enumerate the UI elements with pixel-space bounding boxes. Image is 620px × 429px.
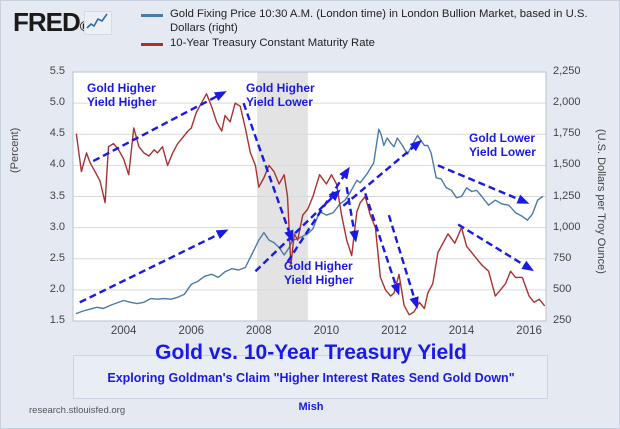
legend-item-treasury: 10-Year Treasury Constant Maturity Rate — [141, 36, 619, 50]
line-chart-icon — [84, 11, 112, 35]
x-tick-5: 2014 — [438, 325, 486, 337]
x-tick-6: 2016 — [505, 325, 553, 337]
x-tick-0: 2004 — [100, 325, 148, 337]
y-tick-left-5: 4.0 — [29, 158, 65, 170]
legend-swatch-treasury — [141, 43, 163, 46]
y-axis-left-label: (Percent) — [9, 128, 21, 173]
annotation-a3: Gold LowerYield Lower — [469, 131, 536, 159]
annotation-line1: Gold Higher — [246, 81, 315, 95]
x-tick-3: 2010 — [302, 325, 350, 337]
legend-swatch-gold — [141, 14, 163, 17]
annotation-a1: Gold HigherYield Higher — [87, 81, 157, 109]
annotation-line1: Gold Higher — [87, 81, 157, 95]
y-tick-right-6: 1,750 — [553, 127, 597, 139]
legend-item-gold: Gold Fixing Price 10:30 A.M. (London tim… — [141, 7, 619, 35]
annotation-line2: Yield Higher — [284, 273, 354, 287]
fred-chart-page: FRED® Gold Fixing Price 10:30 A.M. (Lond… — [1, 1, 619, 428]
legend-label-treasury: 10-Year Treasury Constant Maturity Rate — [170, 36, 375, 50]
source-url: research.stlouisfed.org — [29, 405, 125, 416]
y-tick-right-5: 1,500 — [553, 158, 597, 170]
y-tick-right-4: 1,250 — [553, 190, 597, 202]
x-tick-1: 2006 — [167, 325, 215, 337]
spark-svg — [85, 12, 109, 32]
y-tick-right-3: 1,000 — [553, 221, 597, 233]
y-tick-right-2: 750 — [553, 252, 597, 264]
chart-legend: Gold Fixing Price 10:30 A.M. (London tim… — [141, 7, 619, 51]
y-tick-left-2: 2.5 — [29, 252, 65, 264]
page-subtitle: Exploring Goldman's Claim "Higher Intere… — [1, 371, 620, 385]
y-tick-left-0: 1.5 — [29, 314, 65, 326]
annotation-a4: Gold HigherYield Higher — [284, 259, 354, 287]
fred-wordmark: FRED — [13, 7, 80, 37]
y-tick-left-3: 3.0 — [29, 221, 65, 233]
x-tick-2: 2008 — [235, 325, 283, 337]
annotation-a2: Gold HigherYield Lower — [246, 81, 315, 109]
fred-logo: FRED® — [13, 9, 89, 39]
y-tick-right-0: 250 — [553, 314, 597, 326]
y-tick-left-6: 4.5 — [29, 127, 65, 139]
y-tick-left-4: 3.5 — [29, 190, 65, 202]
y-tick-right-1: 500 — [553, 283, 597, 295]
legend-label-gold: Gold Fixing Price 10:30 A.M. (London tim… — [170, 7, 619, 35]
annotation-line2: Yield Higher — [87, 95, 157, 109]
y-tick-right-7: 2,000 — [553, 96, 597, 108]
y-tick-left-8: 5.5 — [29, 65, 65, 77]
annotation-line1: Gold Lower — [469, 131, 536, 145]
annotation-line2: Yield Lower — [246, 95, 315, 109]
y-tick-right-8: 2,250 — [553, 65, 597, 77]
page-title: Gold vs. 10-Year Treasury Yield — [1, 341, 620, 365]
annotation-line2: Yield Lower — [469, 145, 536, 159]
annotation-line1: Gold Higher — [284, 259, 354, 273]
x-tick-4: 2012 — [370, 325, 418, 337]
y-tick-left-7: 5.0 — [29, 96, 65, 108]
y-tick-left-1: 2.0 — [29, 283, 65, 295]
